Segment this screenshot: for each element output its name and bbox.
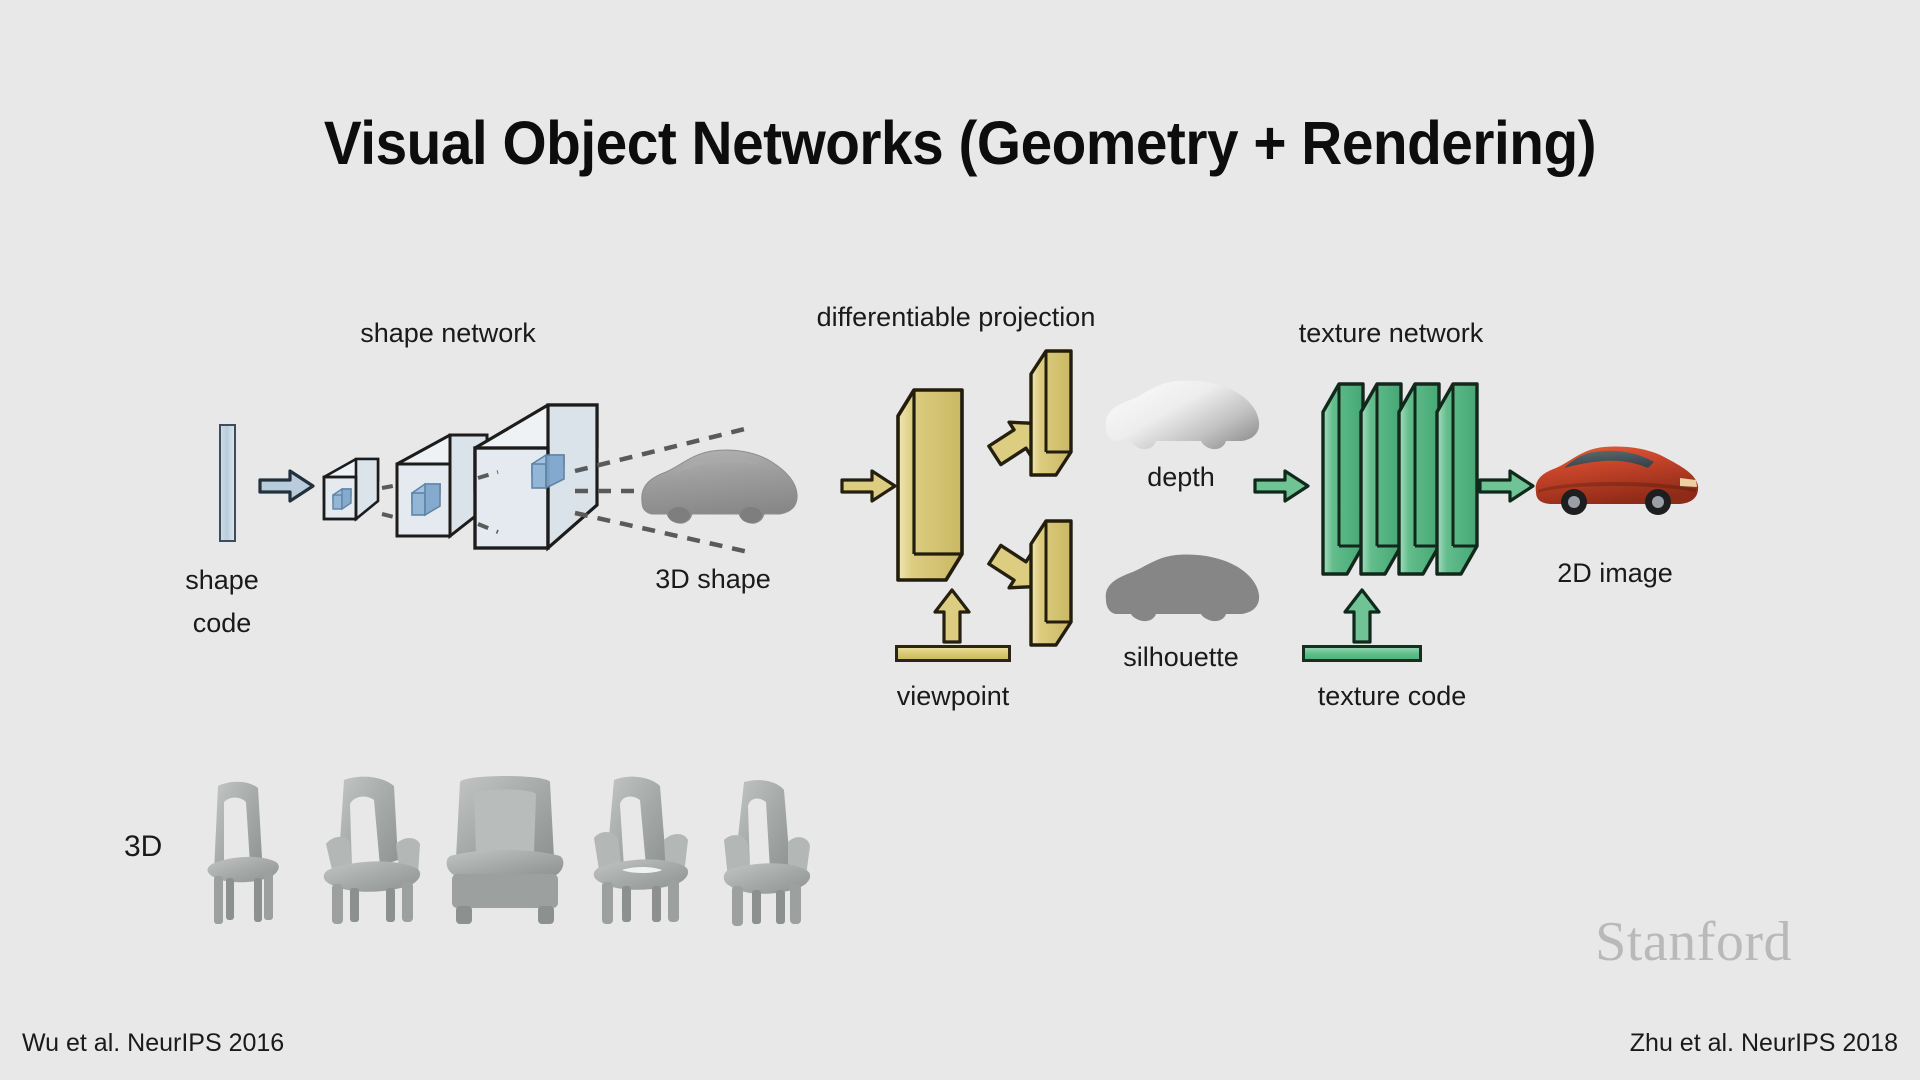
label-viewpoint: viewpoint [897,679,1010,715]
label-3d-shape: 3D shape [655,562,771,598]
label-shape-network: shape network [360,316,536,352]
page-title: Visual Object Networks (Geometry + Rende… [67,108,1853,178]
label-2d-image: 2D image [1557,556,1673,592]
label-silhouette: silhouette [1123,640,1239,676]
projection-plane-silhouette [1028,518,1074,648]
projection-plane-depth [1028,348,1074,478]
chair-mesh-4 [580,774,698,930]
viewpoint-code-bar [895,645,1011,662]
depth-map-image [1100,375,1262,455]
label-depth: depth [1147,460,1215,496]
projection-plane-main [894,386,966,586]
chair-mesh-5 [710,778,820,930]
label-texture-code: texture code [1318,679,1467,715]
chair-mesh-1 [190,778,302,930]
arrow-texturecode-to-network [1342,588,1382,644]
stanford-wordmark: Stanford [1595,910,1792,974]
chair-gallery-row [190,760,950,930]
label-differentiable-projection: differentiable projection [817,300,1096,336]
rendered-2d-car-image [1530,440,1702,518]
texture-code-bar [1302,645,1422,662]
arrow-shapecode-to-network [258,468,316,504]
arrow-texture-to-2d-image [1478,468,1536,504]
three-d-shape-mesh [634,442,802,530]
arrow-shape-to-projection [840,468,898,504]
footer-citation-right: Zhu et al. NeurIPS 2018 [1630,1029,1898,1058]
arrow-depth-to-texture-network [1253,468,1311,504]
slide-canvas: Visual Object Networks (Geometry + Rende… [0,0,1920,1080]
label-shape-code-line2: code [193,606,252,642]
texture-plane-4 [1434,380,1480,580]
label-shape-code-line1: shape [185,563,259,599]
footer-citation-left: Wu et al. NeurIPS 2016 [22,1029,284,1058]
shape-code-bar [219,424,236,542]
label-texture-network: texture network [1299,316,1484,352]
label-gallery-3d: 3D [124,830,162,864]
chair-mesh-3 [440,772,570,930]
silhouette-image [1100,550,1262,626]
chair-mesh-2 [310,774,432,930]
arrow-viewpoint-to-projection [932,588,972,644]
